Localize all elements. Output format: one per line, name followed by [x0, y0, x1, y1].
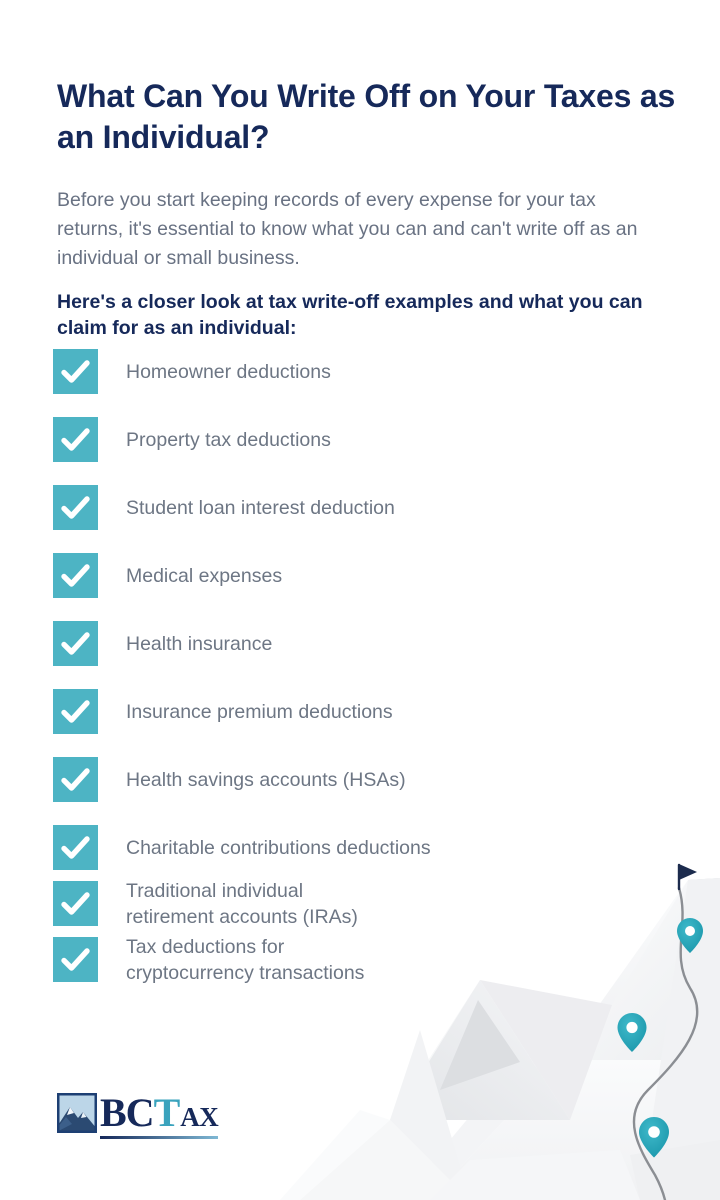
map-pin-icon-top — [677, 918, 703, 953]
list-item-label: Property tax deductions — [126, 427, 331, 453]
check-icon — [53, 553, 98, 598]
list-item: Property tax deductions — [53, 417, 653, 462]
logo-text-t: T — [154, 1090, 181, 1135]
list-item-label: Medical expenses — [126, 563, 282, 589]
list-item: Medical expenses — [53, 553, 653, 598]
logo-wordmark: BCTAX — [100, 1093, 218, 1133]
mountain-icon — [57, 1093, 97, 1133]
check-icon — [53, 937, 98, 982]
summit-flag-icon — [679, 864, 697, 889]
list-item-label: Homeowner deductions — [126, 359, 331, 385]
check-icon — [53, 881, 98, 926]
list-item-label: Insurance premium deductions — [126, 699, 393, 725]
list-item: Health insurance — [53, 621, 653, 666]
map-pin-icon-bottom — [639, 1117, 669, 1158]
page-title: What Can You Write Off on Your Taxes as … — [57, 76, 677, 158]
check-icon — [53, 349, 98, 394]
logo-text-bc: BC — [100, 1090, 154, 1135]
intro-paragraph: Before you start keeping records of ever… — [57, 186, 647, 273]
checklist: Homeowner deductions Property tax deduct… — [53, 349, 653, 993]
list-item: Homeowner deductions — [53, 349, 653, 394]
check-icon — [53, 825, 98, 870]
infographic-page: What Can You Write Off on Your Taxes as … — [0, 0, 720, 1200]
map-pin-icon-middle — [618, 1013, 647, 1052]
list-item: Health savings accounts (HSAs) — [53, 757, 653, 802]
check-icon — [53, 689, 98, 734]
list-item-label: Health insurance — [126, 631, 272, 657]
logo-underline — [100, 1136, 218, 1139]
check-icon — [53, 621, 98, 666]
subheading: Here's a closer look at tax write-off ex… — [57, 289, 647, 341]
list-item: Traditional individual retirement accoun… — [53, 881, 653, 926]
list-item: Charitable contributions deductions — [53, 825, 653, 870]
list-item: Tax deductions for cryptocurrency transa… — [53, 937, 653, 982]
list-item-label: Traditional individual retirement accoun… — [126, 878, 358, 930]
logo-text-ax: AX — [180, 1102, 218, 1132]
list-item-label: Health savings accounts (HSAs) — [126, 767, 406, 793]
check-icon — [53, 757, 98, 802]
check-icon — [53, 417, 98, 462]
list-item-label: Student loan interest deduction — [126, 495, 395, 521]
list-item-label: Charitable contributions deductions — [126, 835, 431, 861]
list-item: Student loan interest deduction — [53, 485, 653, 530]
list-item: Insurance premium deductions — [53, 689, 653, 734]
check-icon — [53, 485, 98, 530]
list-item-label: Tax deductions for cryptocurrency transa… — [126, 934, 364, 986]
bctax-logo[interactable]: BCTAX — [57, 1093, 218, 1133]
